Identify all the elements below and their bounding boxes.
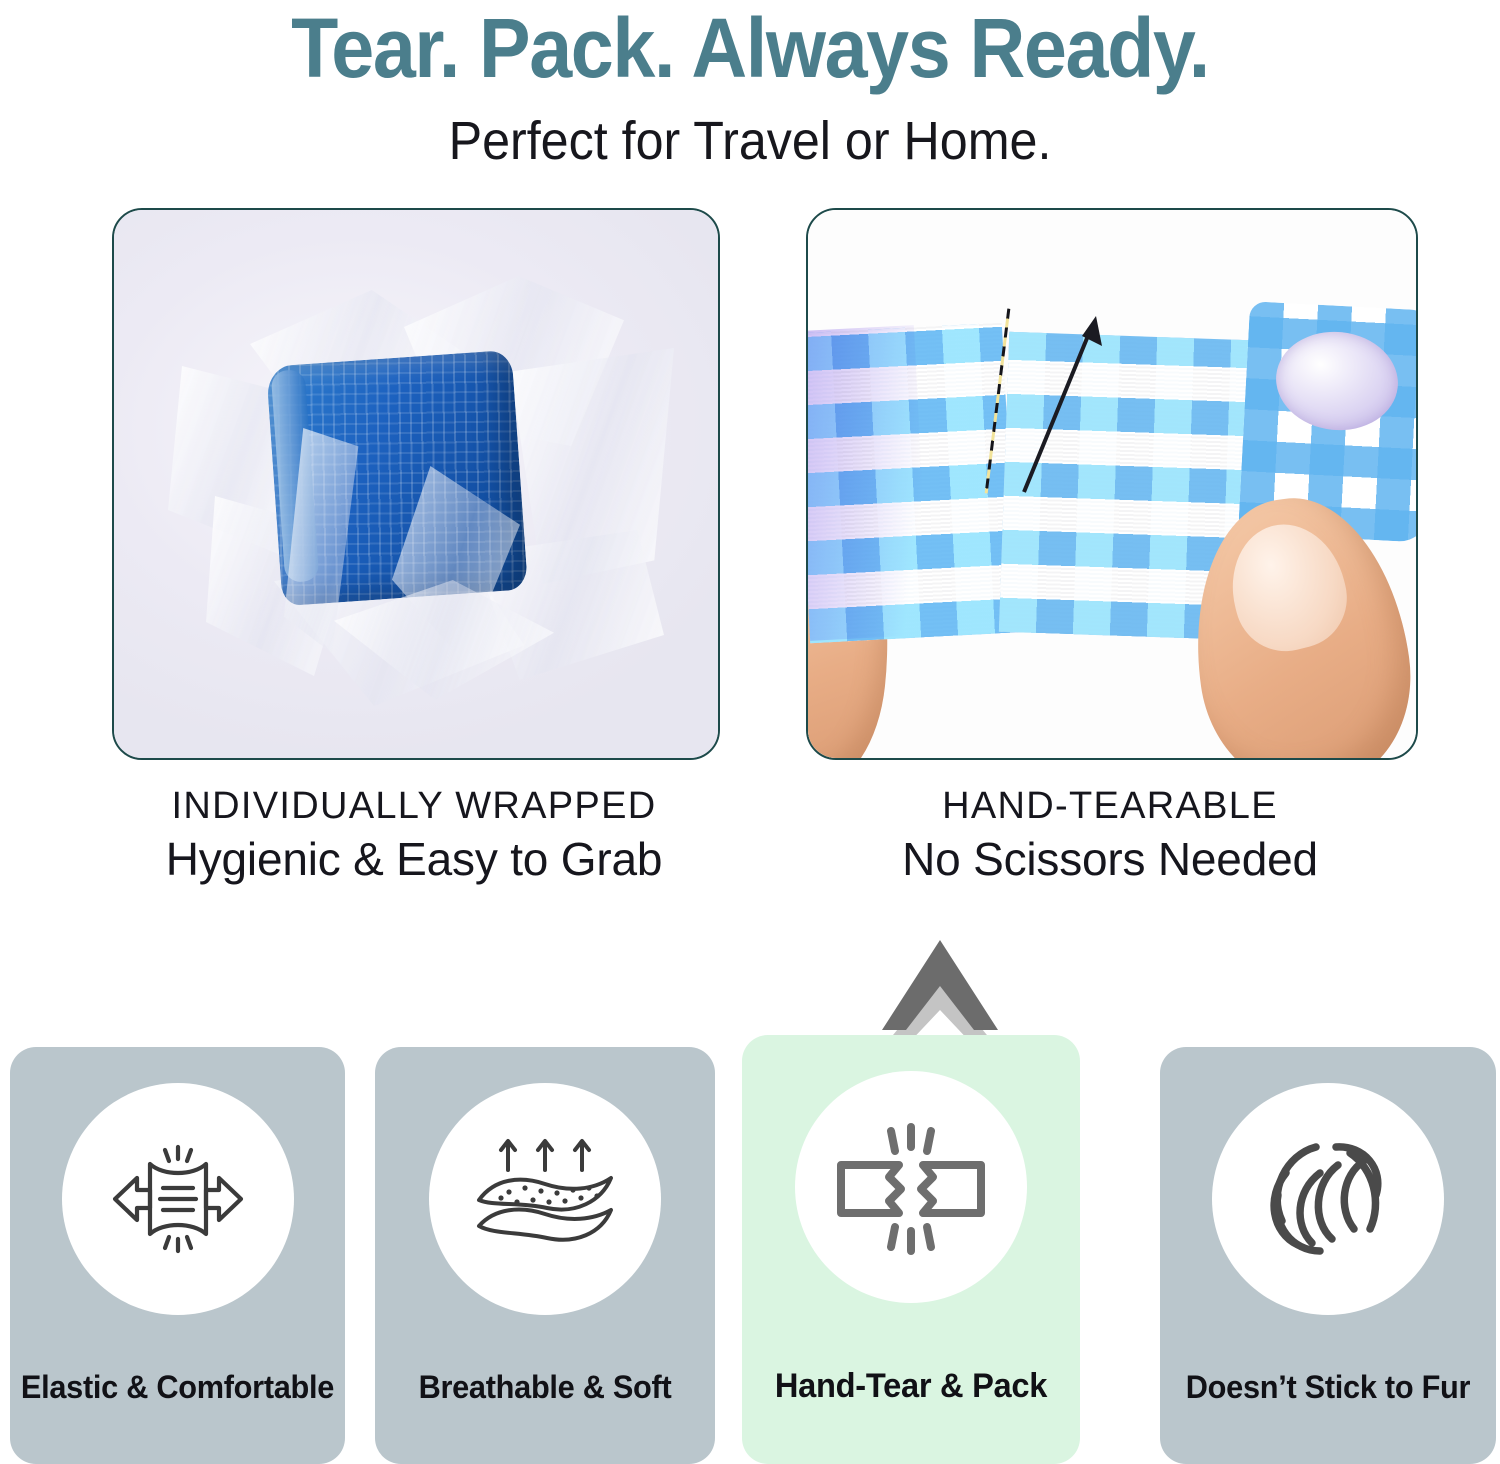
feature-card-label: Doesn’t Stick to Fur [1167,1369,1490,1406]
tape-violet-shadow [806,325,930,641]
stretch-arrows-icon [103,1134,253,1264]
photo-panel-individually-wrapped [112,208,720,760]
breathable-layers-icon [465,1134,625,1264]
caption-hand-tearable: HAND-TEARABLE No Scissors Needed [806,782,1414,888]
caption-subtitle: No Scissors Needed [806,830,1414,888]
page-subheadline: Perfect for Travel or Home. [53,108,1448,174]
feature-card-label: Breathable & Soft [382,1369,708,1406]
photo-panel-hand-tearable [806,208,1418,760]
feature-cards-row: Elastic & Comfortable [0,1035,1500,1464]
feature-card-doesnt-stick-to-fur[interactable]: Doesn’t Stick to Fur [1160,1047,1496,1464]
feature-card-label: Hand-Tear & Pack [749,1367,1073,1406]
tear-apart-icon [831,1117,991,1257]
feature-card-breathable-soft[interactable]: Breathable & Soft [375,1047,715,1464]
tear-direction-arrow-icon [1006,310,1126,500]
icon-badge [795,1071,1027,1303]
icon-badge [429,1083,661,1315]
feature-card-label: Elastic & Comfortable [17,1369,339,1406]
feature-card-hand-tear-pack[interactable]: Hand-Tear & Pack [742,1035,1080,1464]
double-chevron-up-icon [878,938,1002,1048]
caption-subtitle: Hygienic & Easy to Grab [112,830,716,888]
icon-badge [62,1083,294,1315]
icon-badge [1212,1083,1444,1315]
caption-individually-wrapped: INDIVIDUALLY WRAPPED Hygienic & Easy to … [112,782,716,888]
caption-title: INDIVIDUALLY WRAPPED [112,782,716,830]
caption-title: HAND-TEARABLE [806,782,1414,830]
fur-swirl-icon [1258,1129,1398,1269]
page-headline: Tear. Pack. Always Ready. [60,2,1440,94]
feature-card-elastic-comfortable[interactable]: Elastic & Comfortable [10,1047,345,1464]
